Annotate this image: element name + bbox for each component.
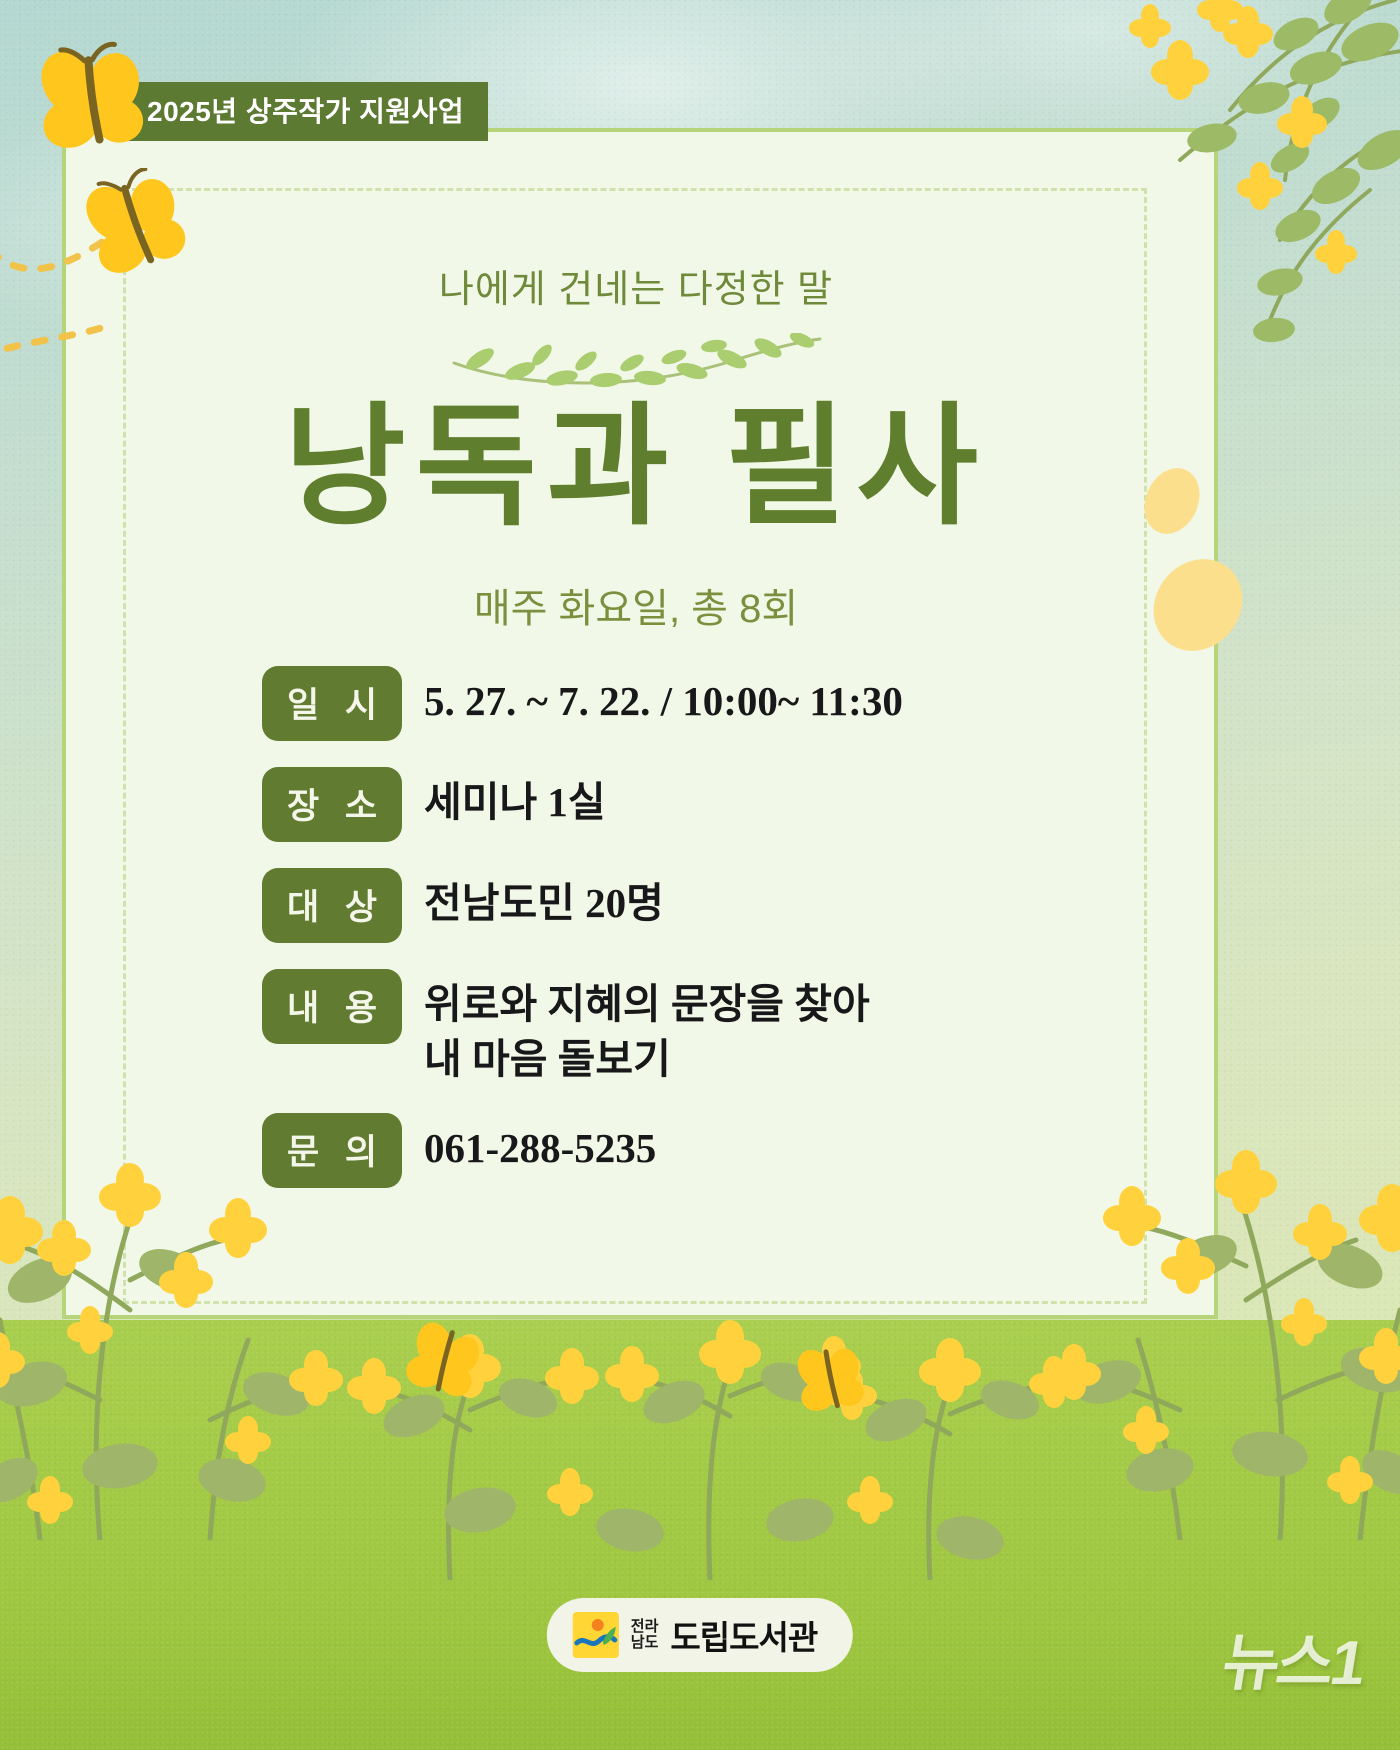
info-value-audience: 전남도민 20명 xyxy=(424,868,1170,931)
info-value-content: 위로와 지혜의 문장을 찾아 내 마음 돌보기 xyxy=(424,969,1170,1087)
leaf-vine-icon xyxy=(446,333,826,393)
info-row: 문 의 061-288-5235 xyxy=(262,1113,1170,1188)
logo-library-name: 도립도서관 xyxy=(670,1611,817,1659)
info-tag-contact: 문 의 xyxy=(262,1113,402,1188)
info-tag-content: 내 용 xyxy=(262,969,402,1044)
logo-region-line2: 남도 xyxy=(631,1635,659,1651)
info-row: 일 시 5. 27. ~ 7. 22. / 10:00~ 11:30 xyxy=(262,666,1170,741)
info-value-contact: 061-288-5235 xyxy=(424,1113,1170,1176)
info-value-date: 5. 27. ~ 7. 22. / 10:00~ 11:30 xyxy=(424,666,1170,729)
poster-content: 나에게 건네는 다정한 말 낭독과 필사 매주 화요일, 총 8회 xyxy=(62,128,1210,1311)
program-banner: 2025년 상주작가 지원사업 xyxy=(123,82,488,141)
grass-background xyxy=(0,1320,1400,1750)
info-list: 일 시 5. 27. ~ 7. 22. / 10:00~ 11:30 장 소 세… xyxy=(262,666,1170,1188)
info-tag-audience: 대 상 xyxy=(262,868,402,943)
jeollanamdo-emblem-icon xyxy=(573,1612,619,1658)
info-row: 장 소 세미나 1실 xyxy=(262,767,1170,842)
logo-region-line1: 전라 xyxy=(631,1619,659,1635)
news-watermark: 뉴스1 xyxy=(1217,1612,1371,1702)
info-value-place: 세미나 1실 xyxy=(424,767,1170,830)
schedule-note: 매주 화요일, 총 8회 xyxy=(62,576,1210,634)
page-title: 낭독과 필사 xyxy=(62,396,1210,539)
poster-root: 2025년 상주작가 지원사업 나에게 건네는 다정한 말 xyxy=(0,0,1400,1750)
info-tag-date: 일 시 xyxy=(262,666,402,741)
library-logo: 전라 남도 도립도서관 xyxy=(547,1598,853,1672)
poster-subtitle: 나에게 건네는 다정한 말 xyxy=(62,258,1210,313)
logo-region-text: 전라 남도 xyxy=(631,1619,659,1651)
info-row: 내 용 위로와 지혜의 문장을 찾아 내 마음 돌보기 xyxy=(262,969,1170,1087)
info-tag-place: 장 소 xyxy=(262,767,402,842)
info-row: 대 상 전남도민 20명 xyxy=(262,868,1170,943)
